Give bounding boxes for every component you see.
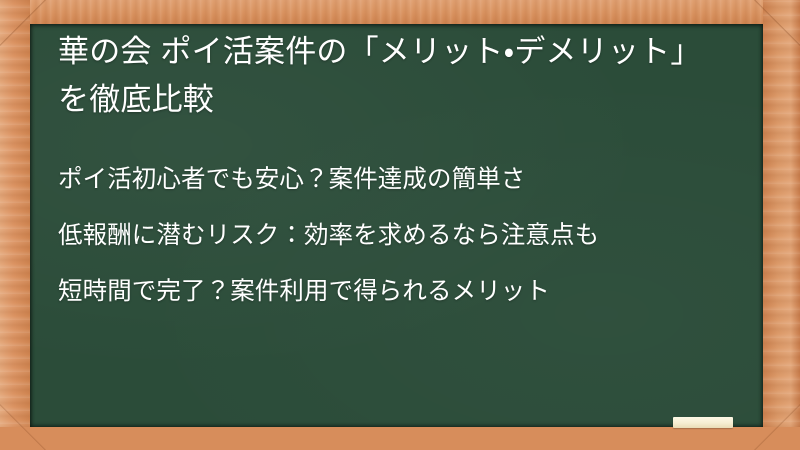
frame-rail-top (0, 0, 800, 24)
board-point-list: ポイ活初心者でも安心？案件達成の簡単さ 低報酬に潜むリスク：効率を求めるなら注意… (58, 152, 738, 320)
chalkboard-frame: 華の会 ポイ活案件の「メリット・デメリット」を徹底比較 ポイ活初心者でも安心？案… (0, 0, 800, 450)
board-title: 華の会 ポイ活案件の「メリット・デメリット」を徹底比較 (58, 28, 718, 124)
frame-rail-right (763, 0, 800, 450)
frame-rail-left (0, 0, 30, 450)
chalk-tray-ledge (0, 427, 800, 450)
board-point-item: ポイ活初心者でも安心？案件達成の簡単さ (58, 152, 738, 208)
chalkboard-surface: 華の会 ポイ活案件の「メリット・デメリット」を徹底比較 ポイ活初心者でも安心？案… (30, 24, 763, 427)
board-point-item: 短時間で完了？案件利用で得られるメリット (58, 264, 738, 320)
board-point-item: 低報酬に潜むリスク：効率を求めるなら注意点も (58, 208, 738, 264)
chalk-stick (673, 417, 733, 428)
